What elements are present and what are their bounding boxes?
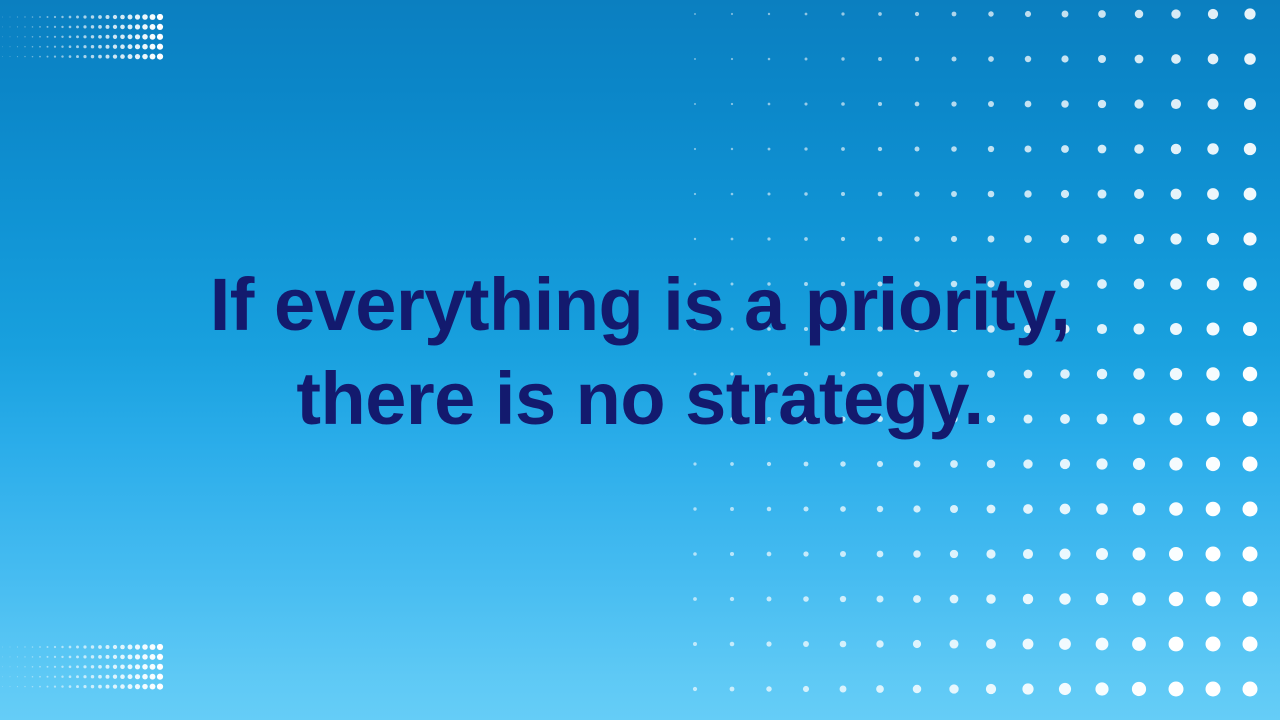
quote-text: If everything is a priority, there is no… — [140, 258, 1140, 446]
quote-line-1: If everything is a priority, — [140, 258, 1140, 352]
quote-container: If everything is a priority, there is no… — [0, 0, 1280, 720]
quote-line-2: there is no strategy. — [140, 352, 1140, 446]
quote-slide: If everything is a priority, there is no… — [0, 0, 1280, 720]
